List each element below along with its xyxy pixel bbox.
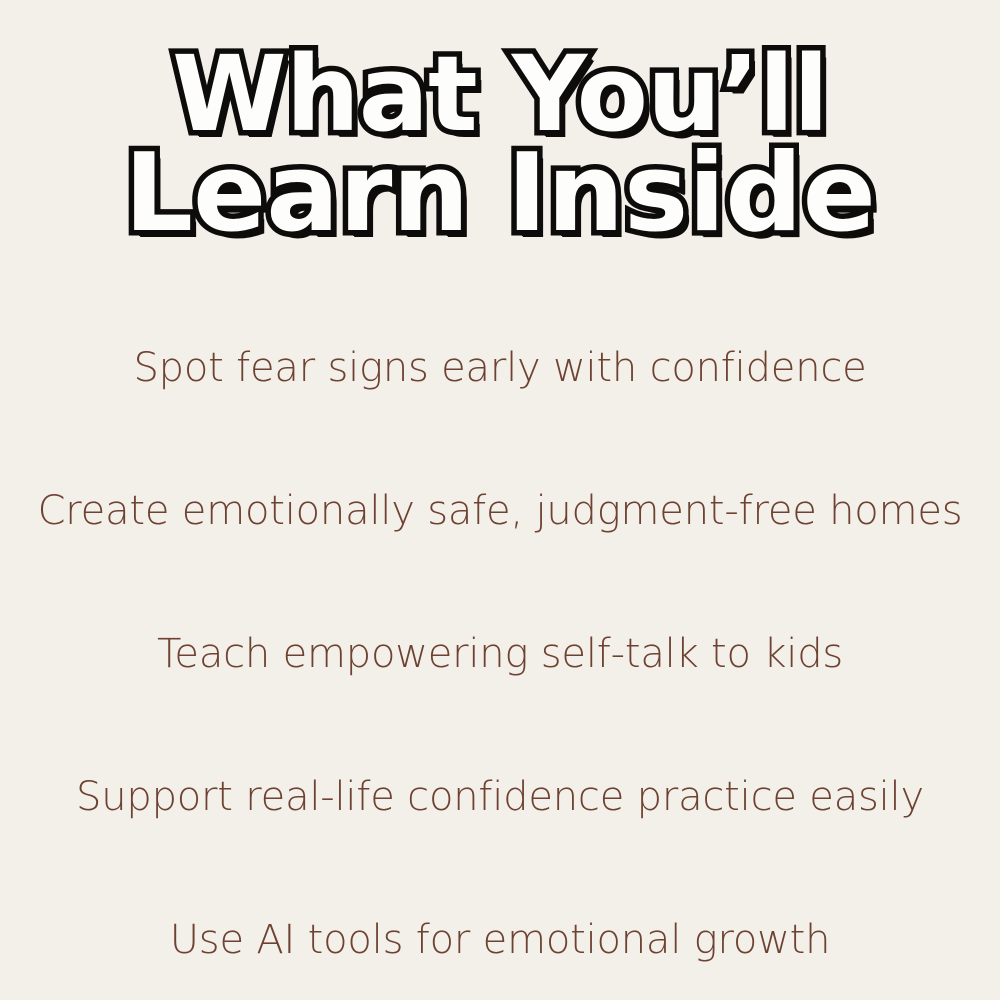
list-item: Use AI tools for emotional growth bbox=[0, 868, 1000, 1000]
title-line-1: What You’ll bbox=[0, 44, 1000, 144]
benefit-text-3: Teach empowering self-talk to kids bbox=[157, 631, 843, 677]
poster-canvas: What You’ll Learn Inside Spot fear signs… bbox=[0, 0, 1000, 1000]
page-title: What You’ll Learn Inside bbox=[0, 44, 1000, 244]
benefit-list: Spot fear signs early with confidence Cr… bbox=[0, 296, 1000, 1000]
title-line-2: Learn Inside bbox=[0, 144, 1000, 244]
list-item: Spot fear signs early with confidence bbox=[0, 296, 1000, 439]
list-item: Create emotionally safe, judgment-free h… bbox=[0, 439, 1000, 582]
list-item: Support real-life confidence practice ea… bbox=[0, 725, 1000, 868]
benefit-text-2: Create emotionally safe, judgment-free h… bbox=[38, 488, 963, 534]
list-item: Teach empowering self-talk to kids bbox=[0, 582, 1000, 725]
benefit-text-5: Use AI tools for emotional growth bbox=[170, 917, 831, 963]
benefit-text-4: Support real-life confidence practice ea… bbox=[76, 774, 924, 820]
benefit-text-1: Spot fear signs early with confidence bbox=[133, 345, 866, 391]
